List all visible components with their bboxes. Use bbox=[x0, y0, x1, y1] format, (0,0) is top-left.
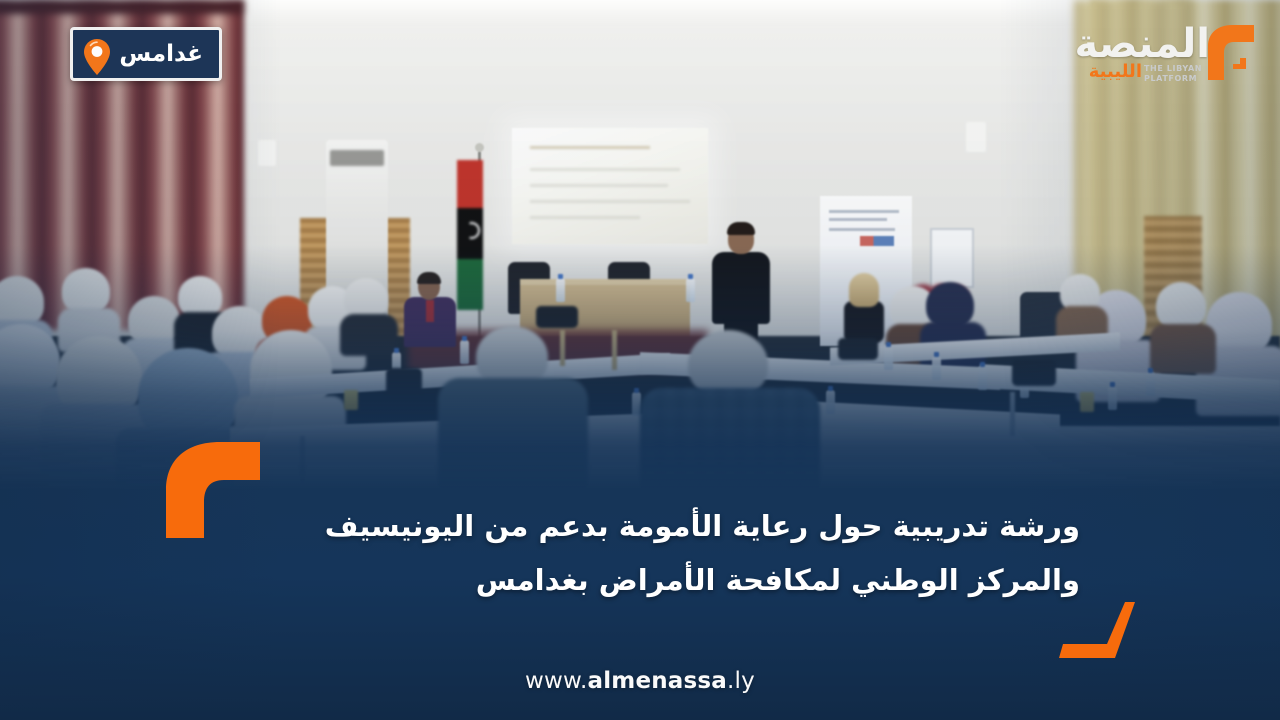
url-name: almenassa bbox=[587, 668, 727, 694]
headline: ورشة تدريبية حول رعاية الأمومة بدعم من ا… bbox=[200, 500, 1080, 607]
website-url[interactable]: www.almenassa.ly bbox=[0, 668, 1280, 694]
headline-line-1: ورشة تدريبية حول رعاية الأمومة بدعم من ا… bbox=[325, 509, 1080, 543]
location-label: غدامس bbox=[119, 43, 205, 66]
location-badge[interactable]: غدامس bbox=[70, 27, 222, 81]
headline-line-2: والمركز الوطني لمكافحة الأمراض بغدامس bbox=[200, 554, 1080, 608]
url-prefix: www. bbox=[525, 668, 587, 694]
brand-logo[interactable]: المنصة الليبية THE LIBYAN PLATFORM bbox=[1046, 20, 1258, 96]
url-tld: .ly bbox=[727, 668, 755, 694]
brand-name-arabic: المنصة bbox=[1074, 24, 1210, 64]
bracket-r-mark-icon bbox=[1202, 22, 1262, 84]
news-graphic-card: غدامس المنصة الليبية THE LIBYAN PLATFORM… bbox=[0, 0, 1280, 720]
brand-subtitle-arabic: الليبية bbox=[1089, 63, 1142, 81]
orange-angle-small-icon bbox=[1055, 600, 1139, 662]
map-pin-icon bbox=[82, 38, 112, 76]
